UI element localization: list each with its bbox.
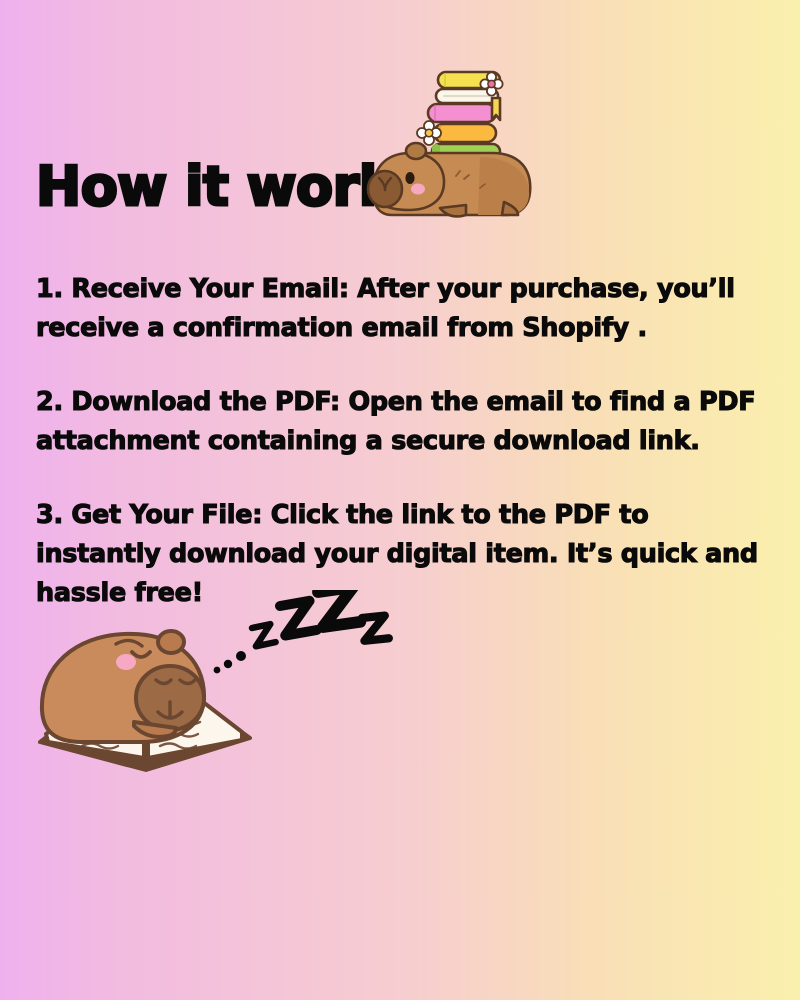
pink-book-icon bbox=[428, 104, 496, 122]
zzz-letter-3 bbox=[318, 590, 360, 627]
zzz-dot-3 bbox=[236, 651, 246, 661]
capybara-eye bbox=[405, 172, 414, 184]
sleeping-capybara-ear bbox=[158, 631, 184, 653]
sleeping-capybara-blush bbox=[116, 654, 136, 670]
zzz-dot-2 bbox=[224, 660, 232, 668]
zzz-letter-4 bbox=[362, 615, 389, 640]
capybara-with-book-stack-illustration bbox=[352, 58, 552, 247]
sleep-zzz-illustration bbox=[210, 590, 410, 684]
step-item-1: 1. Receive Your Email: After your purcha… bbox=[36, 270, 762, 348]
step-item-2: 2. Download the PDF: Open the email to f… bbox=[36, 383, 762, 461]
steps-list: 1. Receive Your Email: After your purcha… bbox=[36, 270, 762, 613]
zzz-dot-1 bbox=[214, 667, 221, 674]
capybara-blush bbox=[411, 184, 425, 195]
zzz-letter-2 bbox=[280, 600, 317, 635]
capybara-ear bbox=[406, 143, 426, 159]
poster-canvas: How it works bbox=[0, 0, 800, 1000]
sleeping-capybara-snout bbox=[136, 666, 204, 730]
bookmark-icon bbox=[492, 98, 500, 120]
zzz-letter-1 bbox=[252, 624, 276, 647]
orange-book-icon bbox=[434, 124, 496, 142]
